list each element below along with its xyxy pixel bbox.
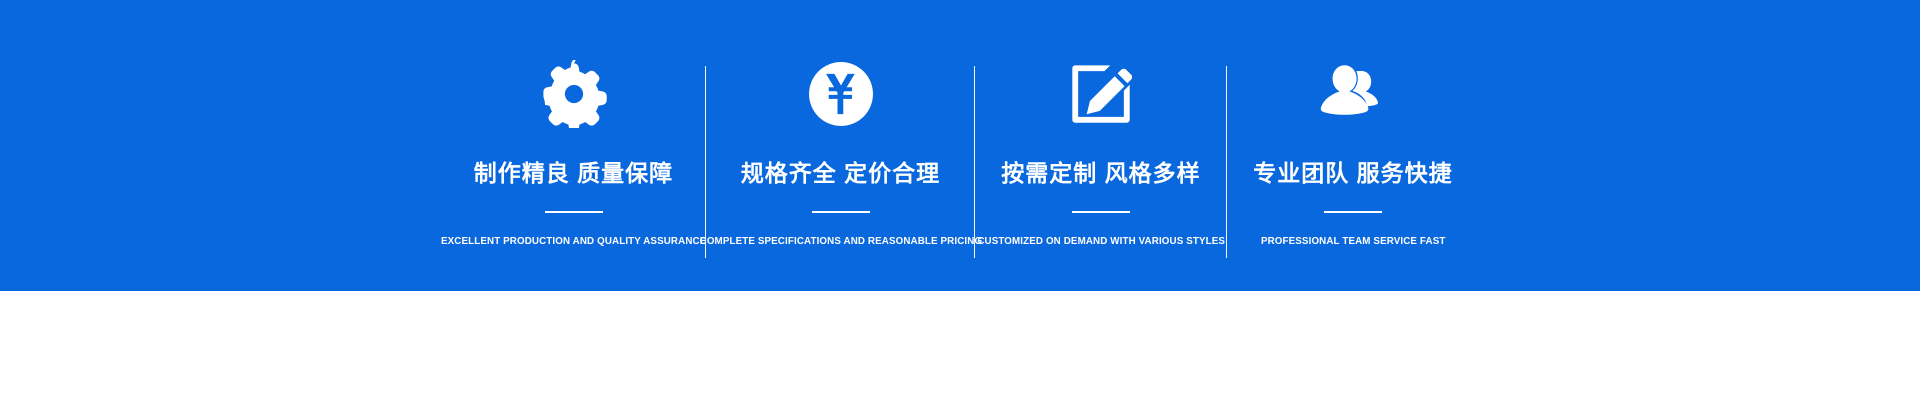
users-team-icon	[1314, 55, 1392, 133]
feature-rule	[1072, 211, 1130, 213]
gear-icon	[535, 55, 613, 133]
feature-item-quality[interactable]: 制作精良 质量保障 EXCELLENT PRODUCTION AND QUALI…	[441, 0, 706, 247]
feature-rule	[812, 211, 870, 213]
yen-coin-icon	[802, 55, 880, 133]
feature-heading: 制作精良 质量保障	[474, 162, 673, 185]
edit-pencil-icon	[1062, 55, 1140, 133]
feature-heading: 按需定制 风格多样	[1001, 162, 1200, 185]
feature-item-team[interactable]: 专业团队 服务快捷 PROFESSIONAL TEAM SERVICE FAST	[1227, 0, 1479, 247]
feature-rule	[1324, 211, 1382, 213]
feature-caption: PROFESSIONAL TEAM SERVICE FAST	[1261, 235, 1446, 247]
feature-caption: CUSTOMIZED ON DEMAND WITH VARIOUS STYLES	[977, 235, 1225, 247]
feature-heading: 规格齐全 定价合理	[741, 162, 940, 185]
feature-item-pricing[interactable]: 规格齐全 定价合理 COMPLETE SPECIFICATIONS AND RE…	[706, 0, 975, 247]
feature-caption: EXCELLENT PRODUCTION AND QUALITY ASSURAN…	[441, 235, 706, 247]
feature-list: 制作精良 质量保障 EXCELLENT PRODUCTION AND QUALI…	[0, 0, 1920, 291]
feature-caption: COMPLETE SPECIFICATIONS AND REASONABLE P…	[699, 235, 982, 247]
feature-heading: 专业团队 服务快捷	[1253, 162, 1452, 185]
feature-item-customization[interactable]: 按需定制 风格多样 CUSTOMIZED ON DEMAND WITH VARI…	[975, 0, 1227, 247]
feature-rule	[545, 211, 603, 213]
